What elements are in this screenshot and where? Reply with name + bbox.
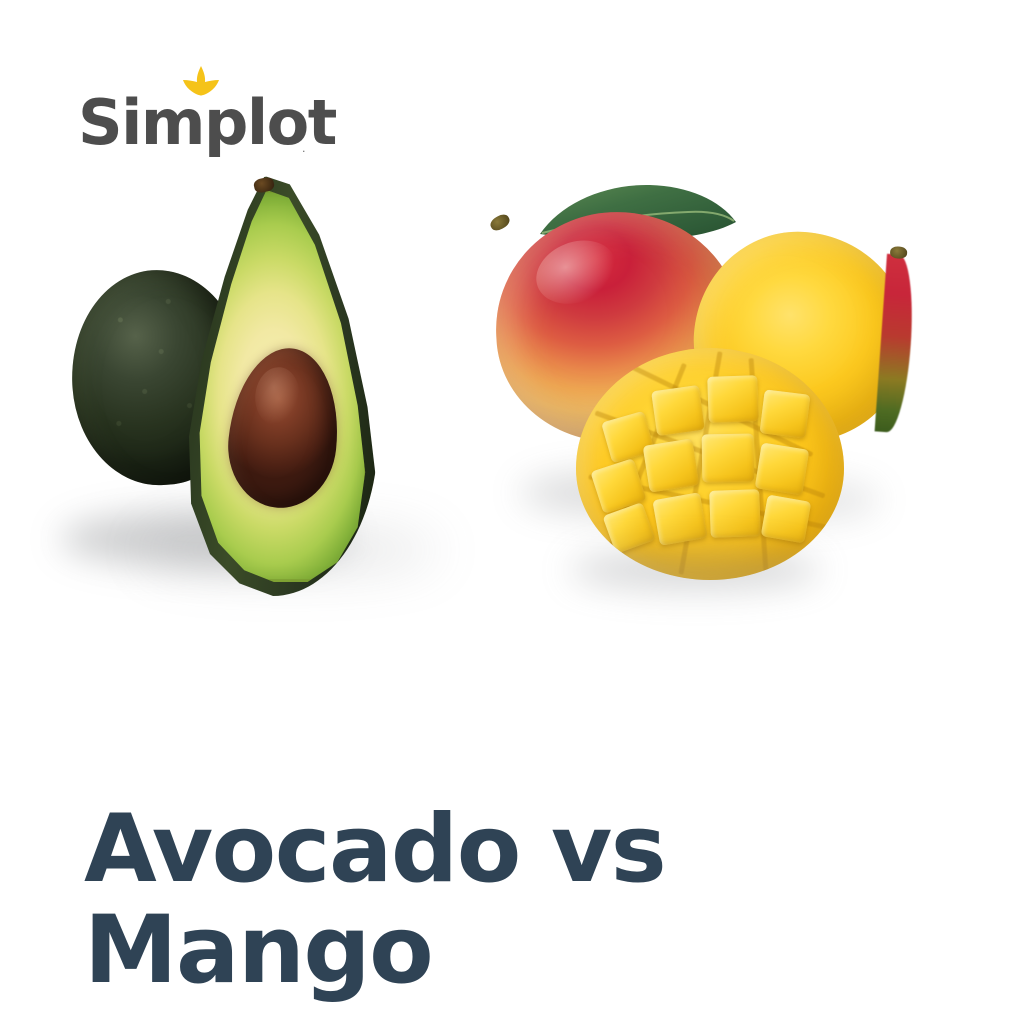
avocado-half [168, 176, 378, 596]
mango-half-skin [875, 254, 917, 434]
mango-group [480, 170, 920, 630]
mango-highlight [527, 229, 625, 314]
page-title: Avocado vs Mango [84, 800, 904, 1001]
hero-product-image [0, 170, 1024, 640]
avocado-group [50, 170, 450, 620]
page-title-line-2: Mango [84, 901, 904, 1002]
simplot-wordmark: Simplot [78, 92, 336, 154]
registered-trademark-mark: . [302, 142, 306, 155]
simplot-logo[interactable]: Simplot . [78, 66, 328, 166]
avocado-pit-highlight [252, 365, 302, 427]
mango-cubed-base [576, 348, 844, 580]
page-title-line-1: Avocado vs [84, 795, 665, 904]
mango-cubed-shadow [570, 550, 820, 590]
mango-cubed-half [576, 348, 844, 580]
poster-canvas: Simplot . [0, 0, 1024, 1024]
mango-half-stem [890, 246, 908, 259]
mango-stem [488, 212, 512, 233]
